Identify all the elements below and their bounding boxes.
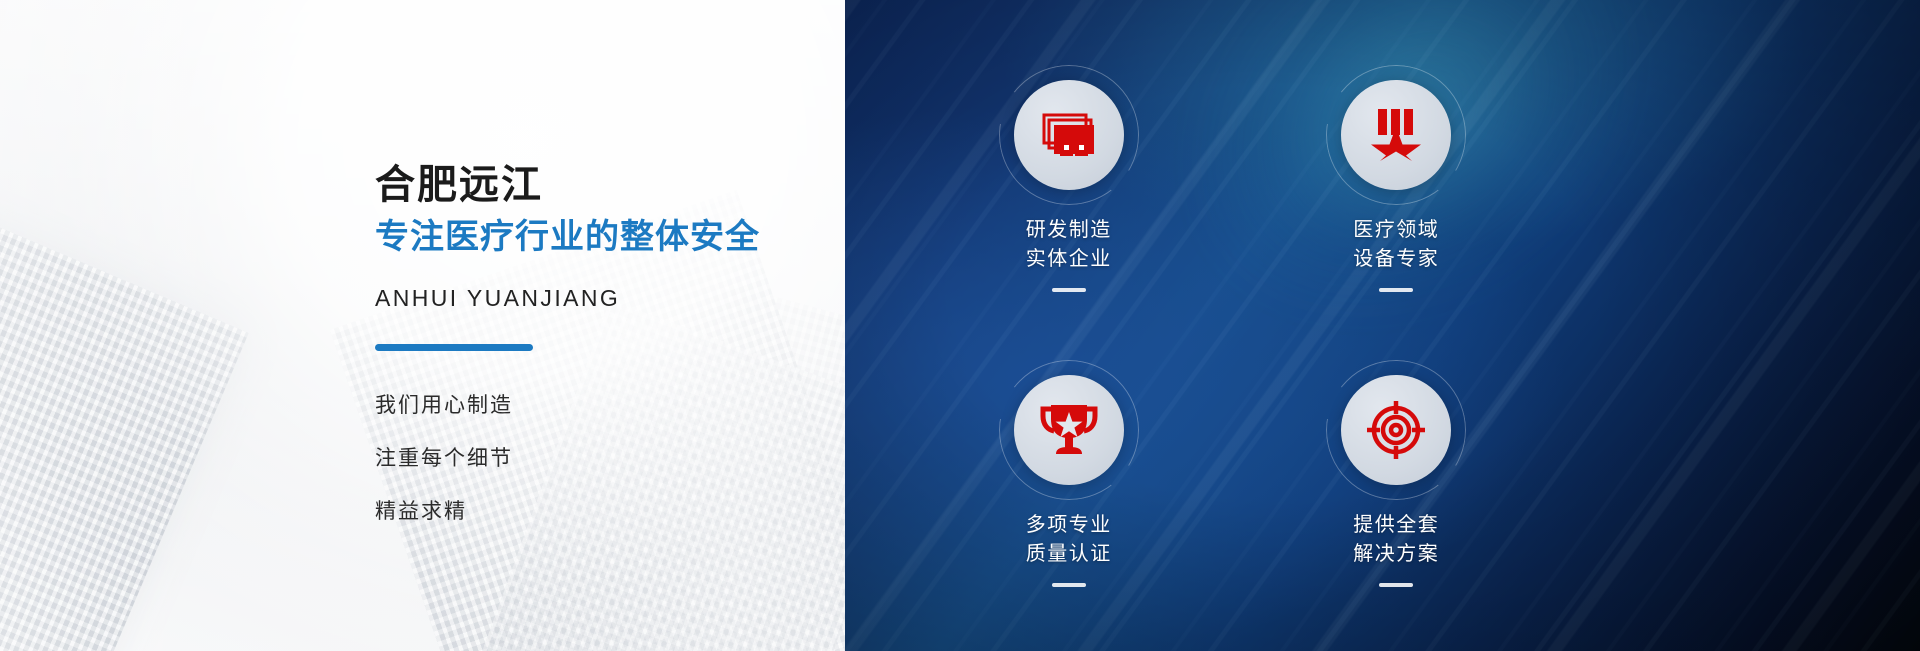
tagline-item: 我们用心制造 — [375, 395, 835, 416]
feature-item-quality-certifications[interactable]: 多项专业 质量认证 — [905, 331, 1233, 626]
feature-item-rd-manufacturing[interactable]: 研发制造 实体企业 — [905, 36, 1233, 331]
left-hero-panel: 合肥远江 专注医疗行业的整体安全 ANHUI YUANJIANG 我们用心制造 … — [0, 0, 845, 651]
label-underline — [1379, 288, 1413, 292]
label-underline — [1052, 288, 1086, 292]
label-underline — [1379, 583, 1413, 587]
feature-label: 医疗领域 设备专家 — [1353, 216, 1439, 274]
feature-label: 提供全套 解决方案 — [1353, 511, 1439, 569]
promo-banner: 合肥远江 专注医疗行业的整体安全 ANHUI YUANJIANG 我们用心制造 … — [0, 0, 1920, 651]
feature-grid: 研发制造 实体企业 — [845, 0, 1920, 651]
feature-label-line2: 解决方案 — [1353, 540, 1439, 569]
tagline-list: 我们用心制造 注重每个细节 精益求精 — [375, 395, 835, 522]
company-title-en: ANHUI YUANJIANG — [375, 285, 835, 312]
feature-label-line1: 提供全套 — [1353, 514, 1439, 536]
tagline-item: 注重每个细节 — [375, 448, 835, 469]
decorative-arc-ring — [999, 360, 1139, 500]
decorative-arc-ring — [999, 65, 1139, 205]
feature-label-line1: 研发制造 — [1026, 219, 1112, 241]
feature-label: 研发制造 实体企业 — [1026, 216, 1112, 274]
feature-label-line1: 多项专业 — [1026, 514, 1112, 536]
icon-container — [1335, 369, 1457, 491]
label-underline — [1052, 583, 1086, 587]
company-subtitle-cn: 专注医疗行业的整体安全 — [375, 215, 835, 259]
feature-label-line1: 医疗领域 — [1353, 219, 1439, 241]
feature-label: 多项专业 质量认证 — [1026, 511, 1112, 569]
icon-container — [1335, 74, 1457, 196]
feature-label-line2: 实体企业 — [1026, 245, 1112, 274]
right-features-panel: 研发制造 实体企业 — [845, 0, 1920, 651]
feature-label-line2: 设备专家 — [1353, 245, 1439, 274]
decorative-arc-ring — [1326, 360, 1466, 500]
feature-item-full-solutions[interactable]: 提供全套 解决方案 — [1233, 331, 1561, 626]
feature-item-medical-devices[interactable]: 医疗领域 设备专家 — [1233, 36, 1561, 331]
icon-container — [1008, 369, 1130, 491]
feature-label-line2: 质量认证 — [1026, 540, 1112, 569]
tagline-item: 精益求精 — [375, 501, 835, 522]
icon-container — [1008, 74, 1130, 196]
company-title-cn: 合肥远江 — [375, 162, 835, 209]
decorative-arc-ring — [1326, 65, 1466, 205]
hero-text-block: 合肥远江 专注医疗行业的整体安全 ANHUI YUANJIANG 我们用心制造 … — [375, 162, 835, 522]
accent-divider — [375, 344, 533, 351]
